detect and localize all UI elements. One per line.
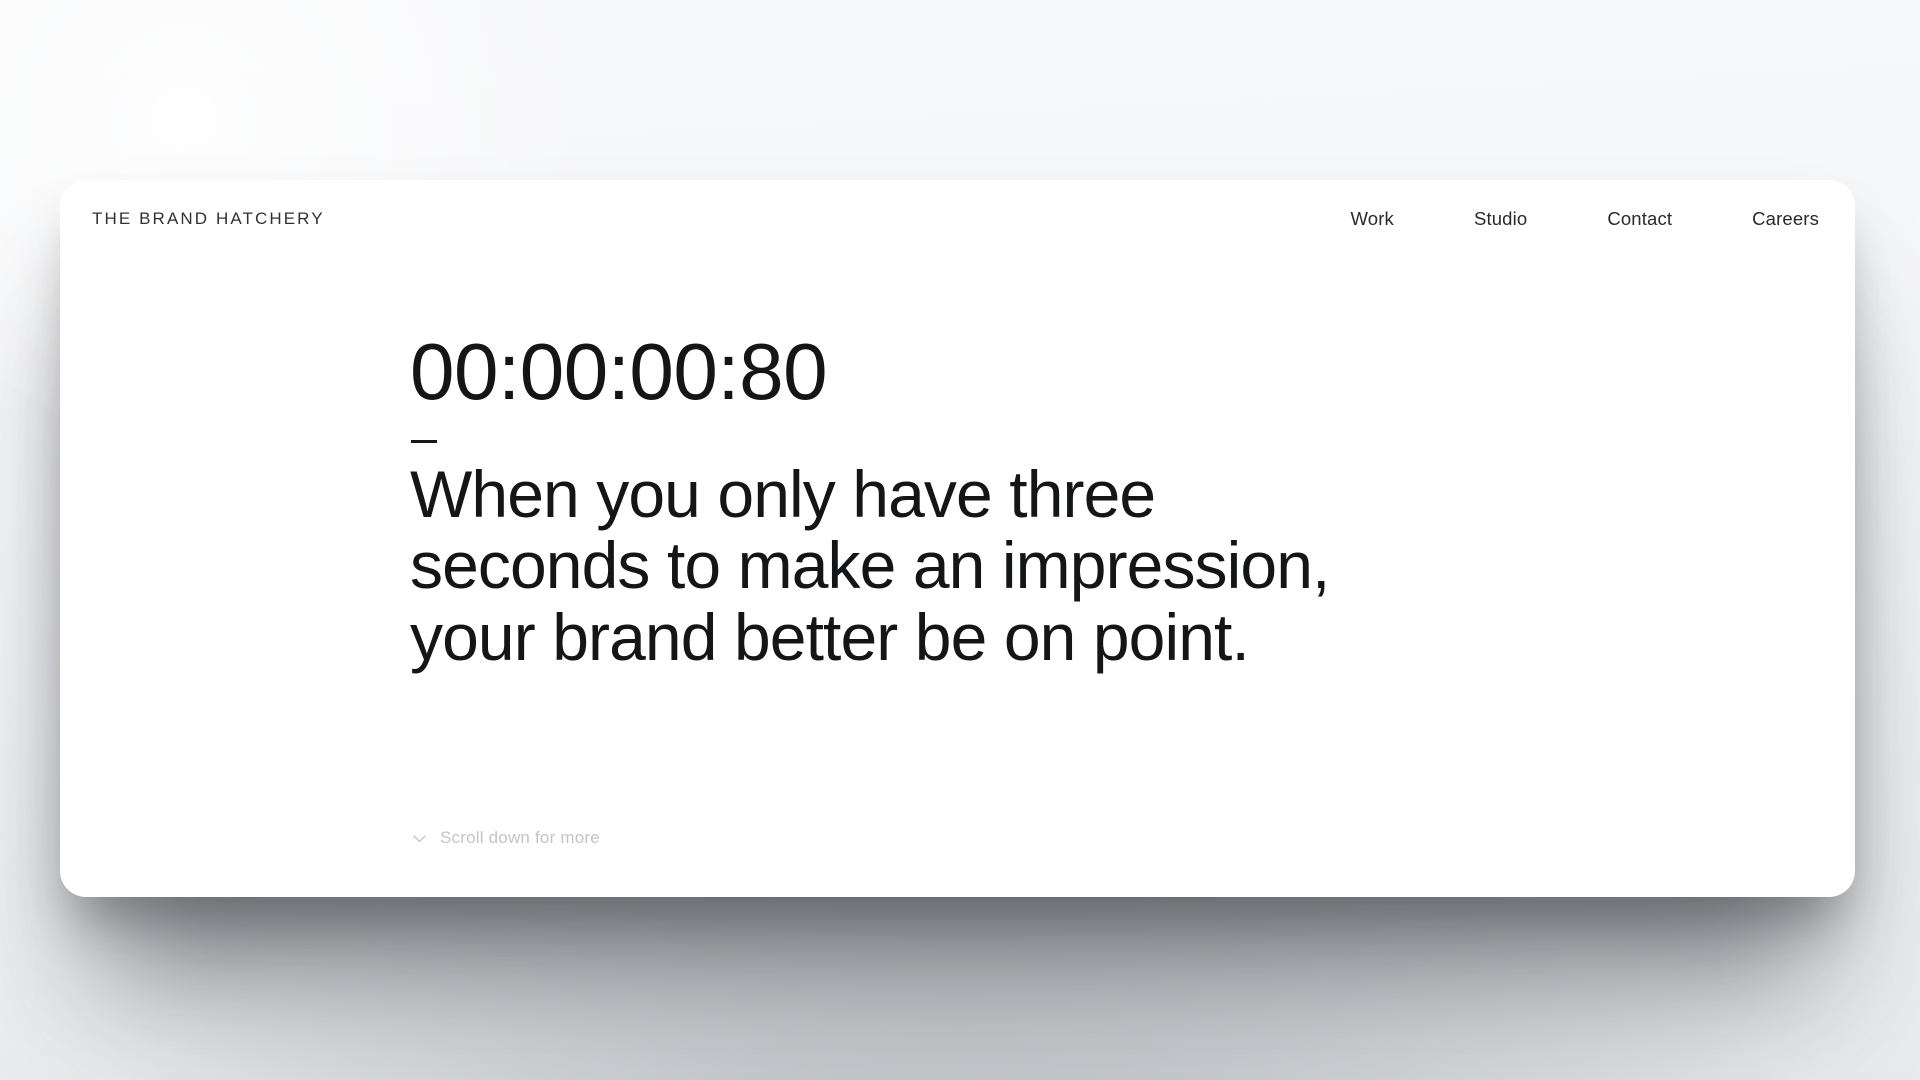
scroll-down-label: Scroll down for more	[440, 828, 600, 848]
hero-divider-rule	[411, 440, 437, 443]
hero-card: THE BRAND HATCHERY Work Studio Contact C…	[60, 180, 1855, 897]
scroll-down-cue[interactable]: Scroll down for more	[410, 828, 600, 848]
nav-link-contact[interactable]: Contact	[1607, 202, 1672, 236]
hero-headline: When you only have three seconds to make…	[410, 459, 1410, 673]
nav-link-studio[interactable]: Studio	[1474, 202, 1527, 236]
nav-link-careers[interactable]: Careers	[1752, 202, 1819, 236]
site-header: THE BRAND HATCHERY Work Studio Contact C…	[60, 180, 1855, 258]
nav-link-work[interactable]: Work	[1351, 202, 1394, 236]
brand-logo[interactable]: THE BRAND HATCHERY	[92, 209, 325, 229]
chevron-down-icon	[410, 829, 429, 848]
main-nav: Work Studio Contact Careers	[1351, 202, 1819, 236]
countdown-timer: 00:00:00:80	[410, 332, 1590, 412]
hero-section: 00:00:00:80 When you only have three sec…	[410, 332, 1590, 673]
